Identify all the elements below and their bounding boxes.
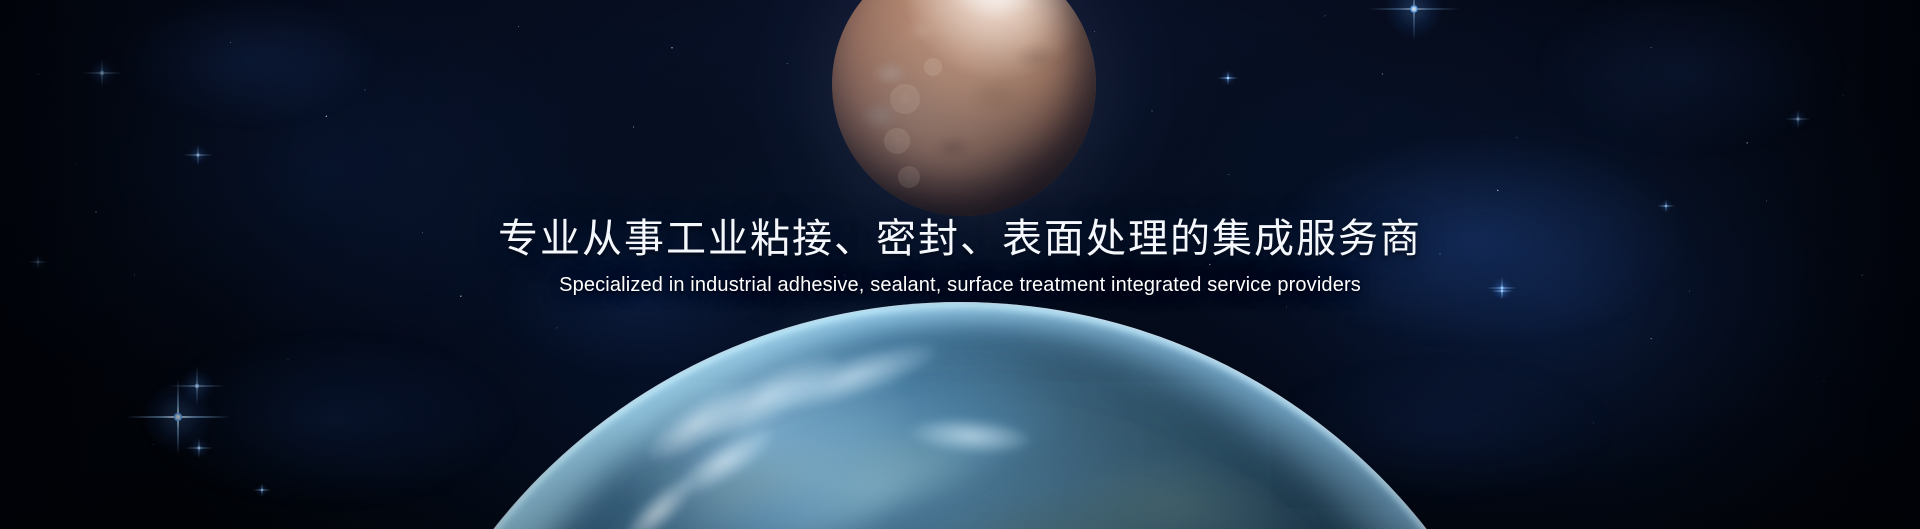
hero-banner: 专业从事工业粘接、密封、表面处理的集成服务商 Specialized in in… [0, 0, 1920, 529]
moon-planet [832, 0, 1096, 216]
lens-flare-bokeh [884, 128, 910, 154]
headline-chinese: 专业从事工业粘接、密封、表面处理的集成服务商 [0, 214, 1920, 264]
lens-flare-bokeh [898, 166, 920, 188]
banner-caption: 专业从事工业粘接、密封、表面处理的集成服务商 Specialized in in… [0, 214, 1920, 298]
headline-english: Specialized in industrial adhesive, seal… [0, 272, 1920, 298]
moon-lens-flare [832, 0, 1096, 216]
lens-flare-bokeh [924, 58, 942, 76]
lens-flare-bokeh [890, 84, 920, 114]
